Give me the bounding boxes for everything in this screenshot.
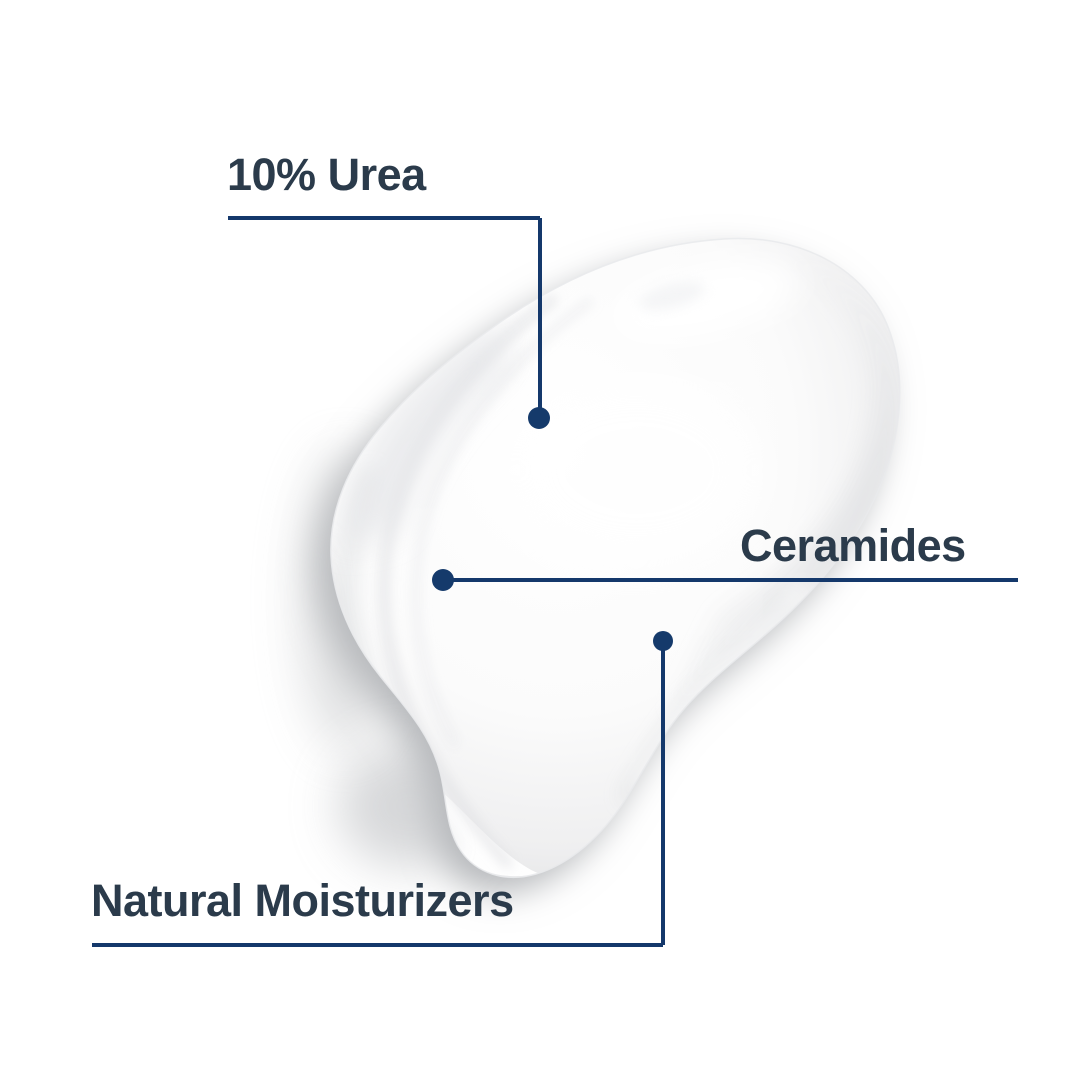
ceramides-dot[interactable] bbox=[432, 569, 454, 591]
moisturizers-dot[interactable] bbox=[653, 631, 673, 651]
callout-label-urea: 10% Urea bbox=[227, 152, 426, 197]
swatch-highlight-center bbox=[506, 374, 766, 566]
callout-label-moisturizers: Natural Moisturizers bbox=[91, 878, 514, 923]
ingredient-callout-graphic: 10% Urea Ceramides Natural Moisturizers bbox=[0, 0, 1080, 1080]
callout-label-ceramides: Ceramides bbox=[740, 523, 966, 568]
urea-dot[interactable] bbox=[528, 407, 550, 429]
